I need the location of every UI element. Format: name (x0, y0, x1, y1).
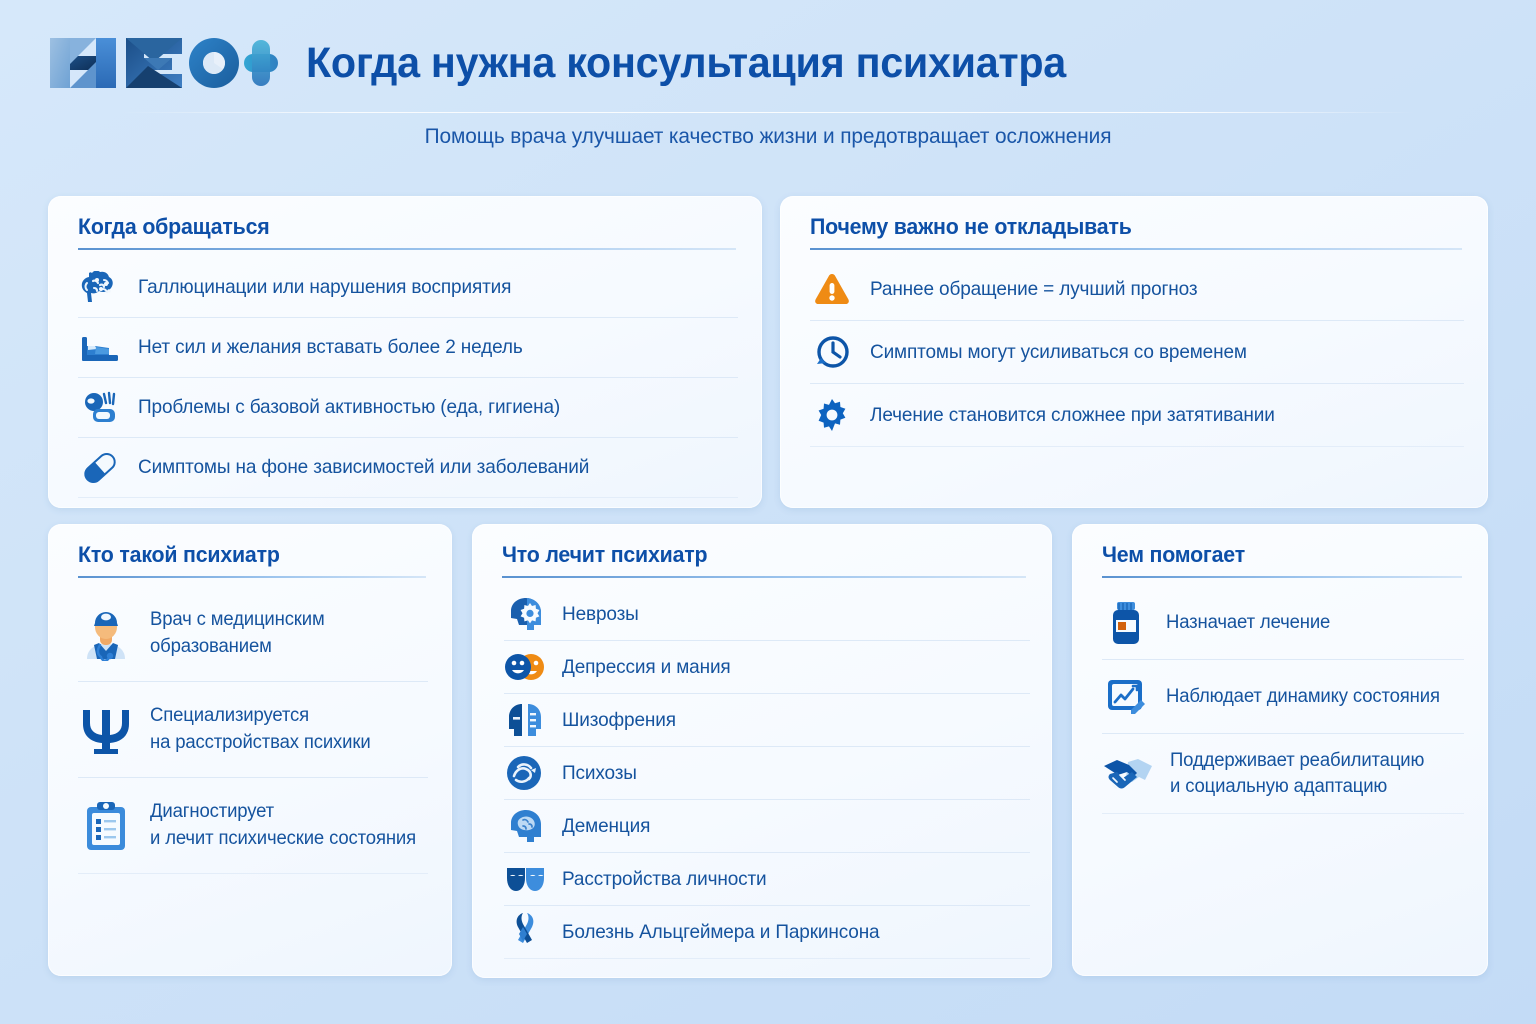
list-item-label: Поддерживает реабилитацию и социальную а… (1170, 748, 1424, 799)
card-items: Врач с медицинским образованием Специали… (78, 586, 428, 874)
card-title-underline (810, 248, 1462, 250)
card-title-underline (502, 576, 1026, 578)
gear-icon (810, 393, 854, 437)
list-item[interactable]: Симптомы могут усиливаться со временем (810, 321, 1464, 384)
list-item[interactable]: Болезнь Альцгеймера и Паркинсона (504, 906, 1030, 959)
card-title: Кто такой психиатр (78, 542, 280, 568)
list-item-label: Проблемы с базовой активностью (еда, гиг… (138, 395, 560, 420)
list-item[interactable]: Деменция (504, 800, 1030, 853)
chart-board-icon (1102, 673, 1150, 721)
list-item-label: Депрессия и мания (562, 655, 731, 680)
line-1: Врач с медицинским (150, 609, 325, 630)
list-item-label: Диагностирует и лечит психические состоя… (150, 799, 416, 851)
list-item[interactable]: Раннее обращение = лучший прогноз (810, 258, 1464, 321)
line-1: Поддерживает реабилитацию (1170, 750, 1424, 771)
list-item[interactable]: Диагностирует и лечит психические состоя… (78, 778, 428, 874)
list-item-label: Нет сил и желания вставать более 2 недел… (138, 335, 523, 360)
card-title-underline (78, 576, 426, 578)
list-item[interactable]: Врач с медицинским образованием (78, 586, 428, 682)
line-2: образованием (150, 636, 272, 657)
pill-icon (78, 446, 122, 490)
list-item-label: Болезнь Альцгеймера и Паркинсона (562, 920, 879, 945)
card-title: Почему важно не откладывать (810, 214, 1132, 240)
list-item-label: Галлюцинации или нарушения восприятия (138, 275, 511, 300)
list-item-label: Раннее обращение = лучший прогноз (870, 277, 1197, 302)
line-1: Специализируется (150, 705, 309, 726)
handshake-icon (1102, 748, 1154, 800)
bed-icon (78, 326, 122, 370)
line-1: Диагностирует (150, 801, 274, 822)
theatre-masks-icon (504, 858, 546, 900)
card-items: Неврозы Депрессия и мания (504, 588, 1030, 959)
card-items: Раннее обращение = лучший прогноз Симпто… (810, 258, 1464, 447)
subtitle-wrap: Помощь врача улучшает качество жизни и п… (0, 124, 1536, 149)
head-brain-icon (504, 805, 546, 847)
brain-icon (78, 266, 122, 310)
card-title-underline (1102, 576, 1462, 578)
list-item[interactable]: Проблемы с базовой активностью (еда, гиг… (78, 378, 738, 438)
list-item[interactable]: Поддерживает реабилитацию и социальную а… (1102, 734, 1464, 814)
list-item-label: Психозы (562, 761, 637, 786)
header-row: Когда нужна консультация психиатра (48, 32, 1098, 94)
line-2: на расстройствах психики (150, 732, 371, 753)
clock-icon (810, 330, 854, 374)
card-items: Галлюцинации или нарушения восприятия Не… (78, 258, 738, 498)
list-item-label: Специализируется на расстройствах психик… (150, 703, 371, 755)
list-item-label: Симптомы на фоне зависимостей или заболе… (138, 455, 589, 480)
list-item-label: Деменция (562, 814, 650, 839)
list-item[interactable]: Психозы (504, 747, 1030, 800)
psi-icon (78, 702, 134, 758)
card-how-it-helps: Чем помогает Назначает лечение (1072, 524, 1488, 976)
list-item[interactable]: Неврозы (504, 588, 1030, 641)
card-who-is-psychiatrist: Кто такой психиатр Врач с медицинским об… (48, 524, 452, 976)
list-item[interactable]: Галлюцинации или нарушения восприятия (78, 258, 738, 318)
neo-plus-logo-icon (48, 32, 280, 94)
clipboard-icon (78, 798, 134, 854)
split-head-icon (504, 699, 546, 741)
card-title: Когда обращаться (78, 214, 270, 240)
header-divider (120, 112, 1416, 113)
head-gear-icon (504, 593, 546, 635)
list-item[interactable]: Наблюдает динамику состояния (1102, 660, 1464, 734)
list-item-label: Врач с медицинским образованием (150, 607, 325, 659)
line-2: и лечит психические состояния (150, 828, 416, 849)
awareness-ribbon-icon (504, 911, 546, 953)
list-item-label: Расстройства личности (562, 867, 767, 892)
list-item[interactable]: Симптомы на фоне зависимостей или заболе… (78, 438, 738, 498)
hygiene-icon (78, 386, 122, 430)
page-title: Когда нужна консультация психиатра (306, 42, 1066, 85)
card-title: Что лечит психиатр (502, 542, 707, 568)
warning-triangle-icon (810, 267, 854, 311)
list-item-label: Неврозы (562, 602, 639, 627)
card-when-to-seek-help: Когда обращаться Галлюцинации или наруше… (48, 196, 762, 508)
card-title-underline (78, 248, 736, 250)
list-item-label: Наблюдает динамику состояния (1166, 684, 1440, 710)
list-item[interactable]: Депрессия и мания (504, 641, 1030, 694)
tangled-head-icon (504, 752, 546, 794)
line-2: и социальную адаптацию (1170, 776, 1387, 797)
card-what-psychiatrist-treats: Что лечит психиатр Неврозы (472, 524, 1052, 978)
list-item[interactable]: Назначает лечение (1102, 586, 1464, 660)
card-why-not-delay: Почему важно не откладывать Раннее обращ… (780, 196, 1488, 508)
card-items: Назначает лечение Наблюдает динамику сос… (1102, 586, 1464, 814)
page-subtitle: Помощь врача улучшает качество жизни и п… (425, 124, 1112, 149)
list-item-label: Лечение становится сложнее при затятиван… (870, 403, 1275, 428)
medicine-bottle-icon (1102, 599, 1150, 647)
page-header: Когда нужна консультация психиатра Помощ… (0, 0, 1536, 178)
list-item[interactable]: Расстройства личности (504, 853, 1030, 906)
card-title: Чем помогает (1102, 542, 1245, 568)
doctor-icon (78, 606, 134, 662)
list-item[interactable]: Специализируется на расстройствах психик… (78, 682, 428, 778)
list-item-label: Назначает лечение (1166, 610, 1330, 636)
list-item[interactable]: Лечение становится сложнее при затятиван… (810, 384, 1464, 447)
list-item-label: Шизофрения (562, 708, 676, 733)
list-item[interactable]: Шизофрения (504, 694, 1030, 747)
list-item-label: Симптомы могут усиливаться со временем (870, 340, 1247, 365)
two-faces-icon (504, 646, 546, 688)
list-item[interactable]: Нет сил и желания вставать более 2 недел… (78, 318, 738, 378)
